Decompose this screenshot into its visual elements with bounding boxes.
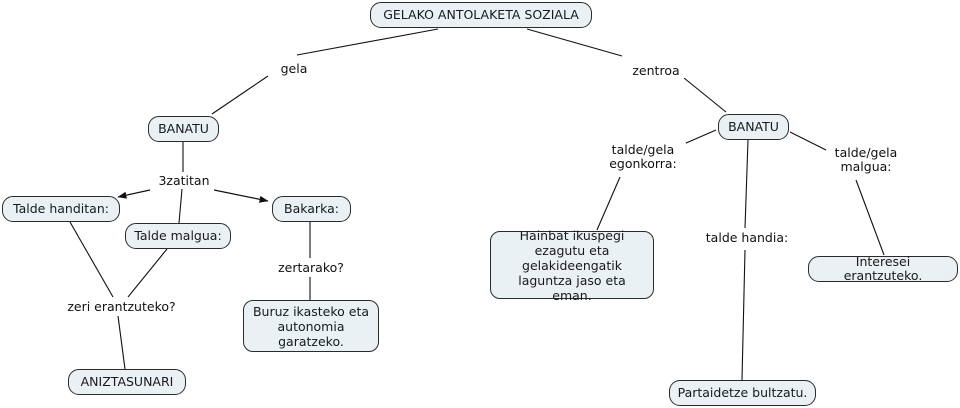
edge-root-to-zentroa xyxy=(527,29,622,56)
node-buruz-ikasteko[interactable]: Buruz ikasteko eta autonomia garatzeko. xyxy=(243,300,379,352)
edge-talde-handitan-to-zeri xyxy=(70,222,113,297)
edge-label-zentroa: zentroa xyxy=(626,64,686,78)
edge-label-talde-gela-malgua: talde/gela malgua: xyxy=(828,146,904,174)
edge-malgua-to-interesei xyxy=(856,180,884,255)
edge-label-talde-handia: talde handia: xyxy=(701,231,793,245)
edge-banatu-right-to-talde-handia xyxy=(745,140,748,228)
edge-label-zeri-erantzuteko: zeri erantzuteko? xyxy=(61,300,182,314)
node-talde-malgua[interactable]: Talde malgua: xyxy=(125,223,231,249)
edge-talde-handia-to-partaidetze xyxy=(742,250,745,380)
edge-banatu-right-to-malgua xyxy=(790,132,826,150)
node-hainbat-ikuspegi[interactable]: Hainbat ikuspegi ezagutu eta gelakideeng… xyxy=(490,231,654,299)
node-aniztasunari[interactable]: ANIZTASUNARI xyxy=(68,369,186,395)
edge-zatitan-to-bakarka xyxy=(214,190,268,201)
edge-zentroa-to-banatu-right xyxy=(684,78,726,112)
concept-map-canvas: GELAKO ANTOLAKETA SOZIALA BANATU BANATU … xyxy=(0,0,960,408)
edge-gela-to-banatu-left xyxy=(212,76,268,114)
edge-zatitan-to-talde-handitan xyxy=(118,190,150,197)
edge-egonkorra-to-hainbat xyxy=(597,177,620,230)
edge-talde-malgua-to-zeri xyxy=(128,249,167,297)
edge-root-to-gela xyxy=(297,29,438,55)
edge-zatitan-to-talde-malgua xyxy=(179,189,182,223)
edge-label-3zatitan: 3zatitan xyxy=(152,174,216,188)
node-bakarka[interactable]: Bakarka: xyxy=(272,196,351,222)
node-partaidetze-bultzatu[interactable]: Partaidetze bultzatu. xyxy=(669,380,816,406)
edge-label-talde-gela-egonkorra: talde/gela egonkorra: xyxy=(600,143,686,171)
concept-map-edges xyxy=(0,0,960,408)
node-banatu-left[interactable]: BANATU xyxy=(148,116,219,142)
edge-zeri-to-aniztasunari xyxy=(118,316,125,369)
node-talde-handitan[interactable]: Talde handitan: xyxy=(2,196,120,222)
node-banatu-right[interactable]: BANATU xyxy=(718,114,789,140)
node-interesei-erantzuteko[interactable]: Interesei erantzuteko. xyxy=(808,256,958,282)
edge-label-gela: gela xyxy=(272,62,316,76)
node-root[interactable]: GELAKO ANTOLAKETA SOZIALA xyxy=(370,2,592,28)
edge-label-zertarako: zertarako? xyxy=(272,261,350,275)
